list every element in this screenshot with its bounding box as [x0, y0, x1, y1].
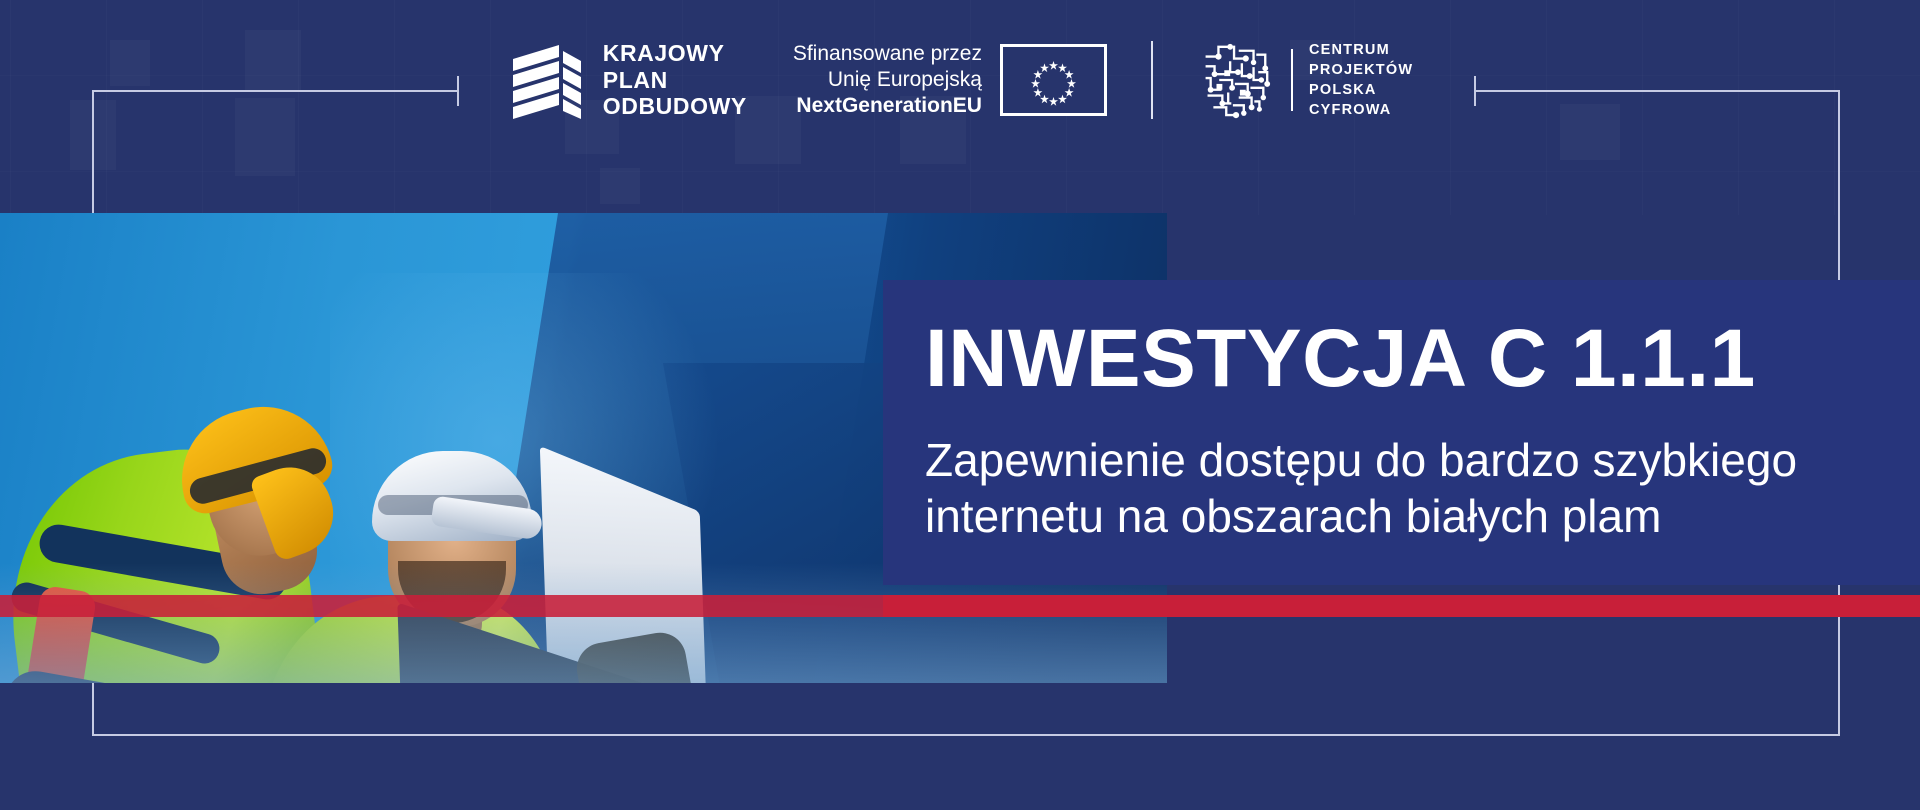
- eu-funding-logo: Sfinansowane przez Unię Europejską NextG…: [793, 41, 1107, 119]
- kpo-line-3: ODBUDOWY: [603, 93, 747, 120]
- eu-line-2: Unię Europejską: [793, 67, 982, 93]
- page-subtitle: Zapewnienie dostępu do bardzo szybkiego …: [925, 432, 1797, 544]
- eu-line-1: Sfinansowane przez: [793, 41, 982, 67]
- texture-square: [600, 168, 640, 204]
- kpo-logo-text: KRAJOWY PLAN ODBUDOWY: [603, 40, 747, 120]
- red-accent-bar-over-photo: [0, 595, 883, 617]
- page-subtitle-line-2: internetu na obszarach białych plam: [925, 488, 1797, 544]
- cppc-rule: [1291, 49, 1293, 111]
- logo-bar: KRAJOWY PLAN ODBUDOWY Sfinansowane przez…: [0, 0, 1920, 160]
- page-subtitle-line-1: Zapewnienie dostępu do bardzo szybkiego: [925, 432, 1797, 488]
- red-accent-bar: [883, 595, 1920, 617]
- cppc-logo-text: CENTRUM PROJEKTÓW POLSKA CYFROWA: [1309, 40, 1413, 120]
- cppc-line-3: POLSKA: [1309, 80, 1413, 100]
- poland-circuit-map-icon: [1197, 39, 1275, 121]
- kpo-logo: KRAJOWY PLAN ODBUDOWY: [507, 40, 747, 120]
- building-blocks-icon: [507, 41, 585, 119]
- cppc-line-2: PROJEKTÓW: [1309, 60, 1413, 80]
- eu-funding-text: Sfinansowane przez Unię Europejską NextG…: [793, 41, 982, 119]
- page-title: INWESTYCJA C 1.1.1: [925, 318, 1756, 400]
- european-union-flag-icon: [1000, 44, 1107, 116]
- logo-divider: [1151, 41, 1153, 119]
- eu-line-3: NextGenerationEU: [793, 93, 982, 119]
- banner-root: KRAJOWY PLAN ODBUDOWY Sfinansowane przez…: [0, 0, 1920, 810]
- frame-bottom-edge: [92, 734, 1840, 736]
- kpo-line-2: PLAN: [603, 67, 747, 94]
- cppc-line-4: CYFROWA: [1309, 100, 1413, 120]
- cppc-logo: CENTRUM PROJEKTÓW POLSKA CYFROWA: [1197, 39, 1413, 121]
- cppc-line-1: CENTRUM: [1309, 40, 1413, 60]
- kpo-line-1: KRAJOWY: [603, 40, 747, 67]
